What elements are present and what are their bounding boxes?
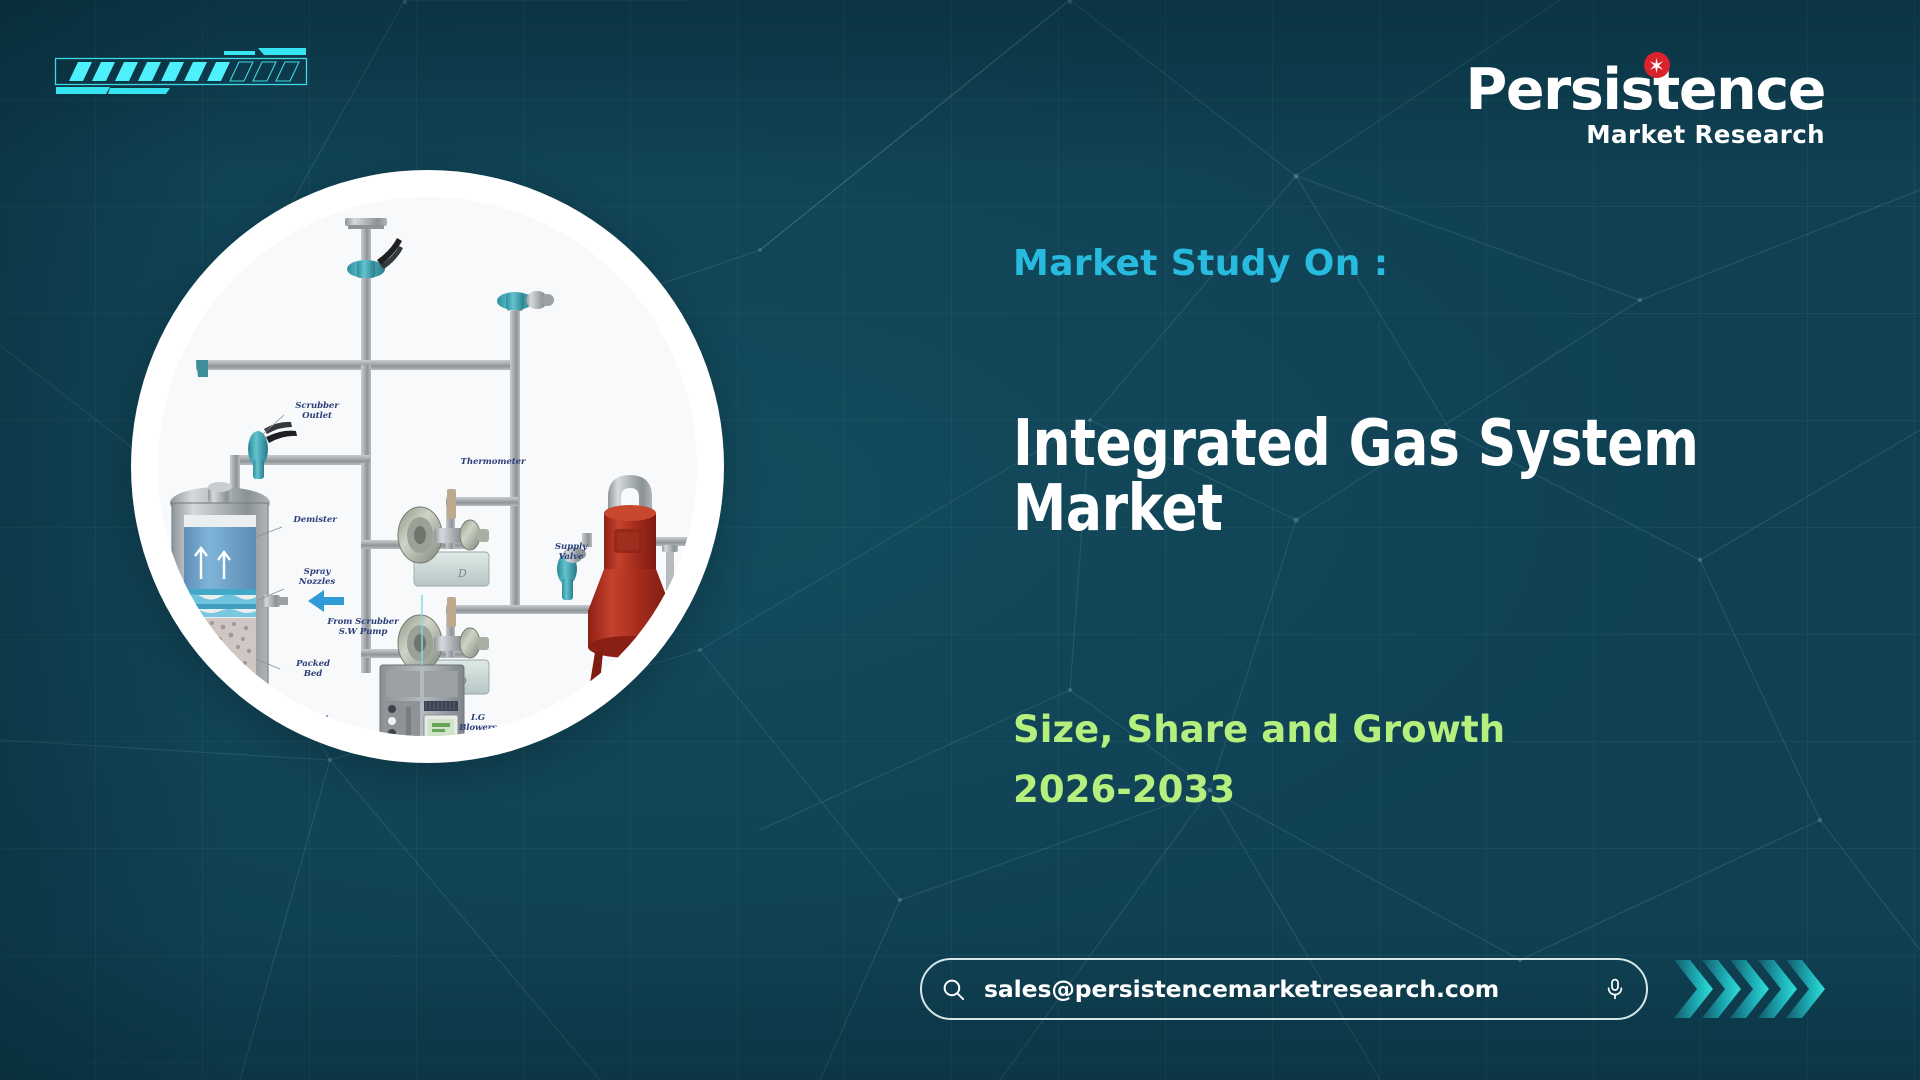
svg-text:D: D: [457, 567, 467, 580]
microphone-icon[interactable]: [1584, 977, 1646, 1001]
search-bar[interactable]: sales@persistencemarketresearch.com: [920, 958, 1648, 1020]
diagram-label: From Scrubber S.W Pump: [318, 617, 408, 638]
diagram-label: Spray Nozzles: [286, 567, 348, 588]
diagram-label: Packed Bed: [282, 659, 344, 680]
page-title-line-1: Integrated Gas System: [1013, 412, 1785, 477]
page-subtitle-line-2: 2026-2033: [1013, 760, 1773, 820]
poster-canvas: Persistence Market Research Market Study…: [0, 0, 1920, 1080]
diagram-label: Liquid Reservoir: [282, 715, 344, 736]
star-icon: [1647, 56, 1666, 75]
hud-loading-bar: [52, 46, 310, 102]
page-subtitle-line-1: Size, Share and Growth: [1013, 700, 1773, 760]
diagram-label: Supply Valve: [543, 542, 599, 563]
hero-image-circle: D D: [131, 170, 724, 763]
page-title: Integrated Gas System Market: [1013, 412, 1785, 543]
circle-image-clip: D D: [158, 197, 697, 736]
diagram-label: Deck Seal: [598, 692, 652, 713]
logo-tagline: Market Research: [1466, 120, 1825, 149]
eyebrow-label: Market Study On :: [1013, 243, 1389, 284]
diagram-label: I.G Blowers: [448, 713, 508, 734]
page-subtitle: Size, Share and Growth 2026-2033: [1013, 700, 1773, 820]
diagram-label: Thermometer: [458, 457, 528, 467]
integrated-gas-system-schematic: D D: [158, 197, 697, 736]
logo-brand-text: Persistence: [1466, 63, 1825, 119]
logo-star-badge: [1644, 52, 1670, 78]
search-input[interactable]: sales@persistencemarketresearch.com: [984, 975, 1584, 1003]
chevron-decoration: [1672, 950, 1862, 1028]
page-title-line-2: Market: [1013, 477, 1785, 542]
search-icon[interactable]: [922, 977, 984, 1002]
diagram-label: Scrubber Outlet: [286, 401, 348, 422]
diagram-label: Demister: [284, 515, 346, 525]
brand-logo: Persistence Market Research: [1466, 63, 1825, 149]
